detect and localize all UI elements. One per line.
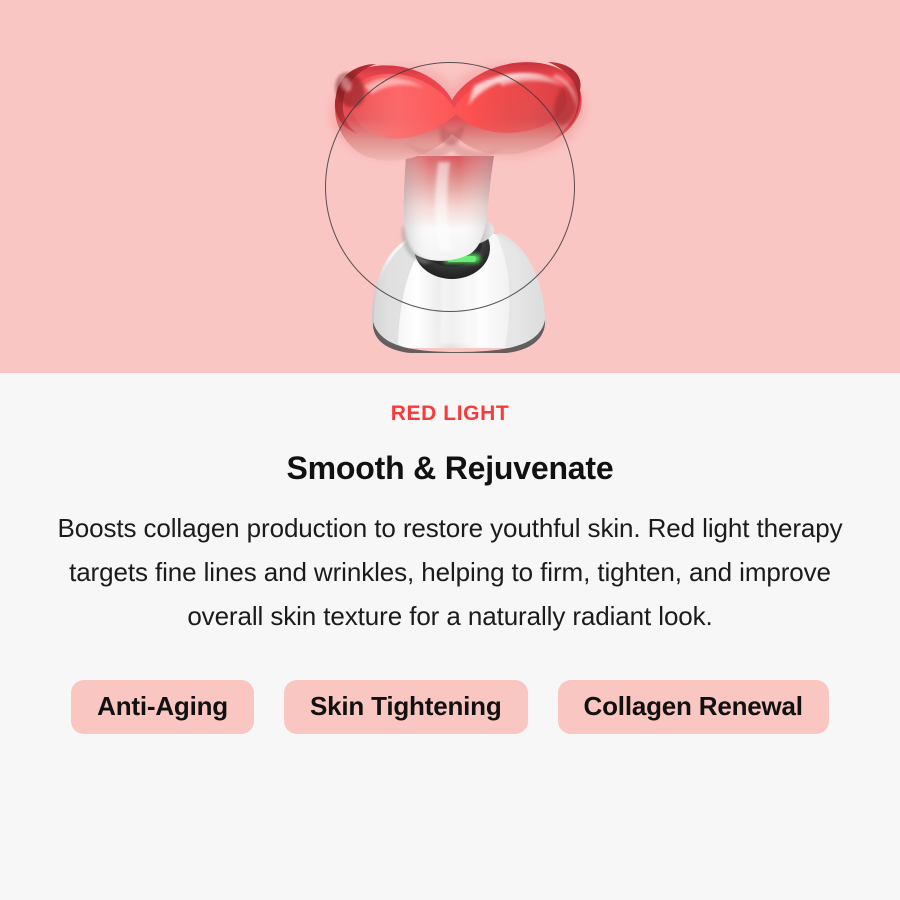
product-stage	[0, 0, 900, 373]
red-light-feature-card: RED LIGHT Smooth & Rejuvenate Boosts col…	[0, 0, 900, 900]
hero-image-panel	[0, 0, 900, 373]
tag-skin-tightening[interactable]: Skin Tightening	[284, 680, 528, 734]
tag-collagen-renewal[interactable]: Collagen Renewal	[558, 680, 829, 734]
content-panel: RED LIGHT Smooth & Rejuvenate Boosts col…	[0, 373, 900, 900]
highlight-circle-outline	[325, 62, 575, 312]
tag-anti-aging[interactable]: Anti-Aging	[71, 680, 254, 734]
description-text: Boosts collagen production to restore yo…	[34, 484, 866, 638]
eyebrow-label: RED LIGHT	[0, 391, 900, 424]
tag-list: Anti-Aging Skin Tightening Collagen Rene…	[70, 638, 830, 734]
page-title: Smooth & Rejuvenate	[0, 424, 900, 484]
